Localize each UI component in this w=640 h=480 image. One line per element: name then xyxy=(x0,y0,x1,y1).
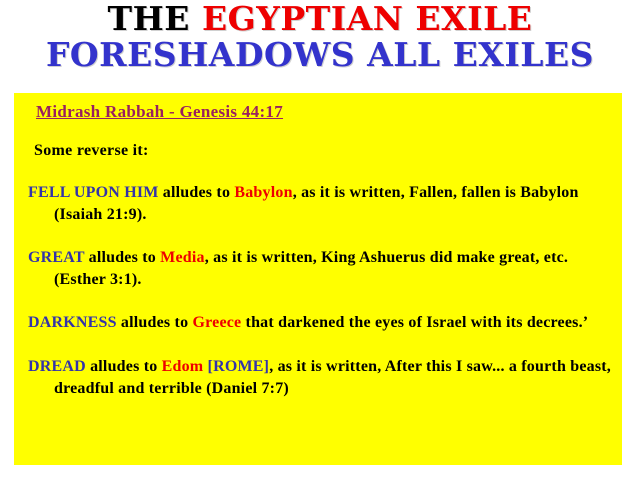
keyword-fell-upon-him: FELL UPON HIM xyxy=(28,184,159,201)
exile-paragraph-3: DARKNESS alludes to Greece that darkened… xyxy=(28,312,612,334)
nation-edom: Edom xyxy=(162,358,204,375)
slide-title: THE EGYPTIAN EXILE FORESHADOWS ALL EXILE… xyxy=(0,2,640,71)
connector-2: alludes to xyxy=(84,249,160,266)
title-word-the: THE xyxy=(108,0,190,38)
connector-1: alludes to xyxy=(159,184,235,201)
connector-4: alludes to xyxy=(86,358,162,375)
keyword-dread: DREAD xyxy=(28,358,86,375)
exile-paragraph-4: DREAD alludes to Edom [ROME], as it is w… xyxy=(28,356,612,399)
title-phrase-egyptian-exile: EGYPTIAN EXILE xyxy=(202,0,533,38)
title-phrase-foreshadows-all-exiles: FORESHADOWS ALL EXILES xyxy=(46,35,594,74)
nation-babylon: Babylon xyxy=(234,184,292,201)
keyword-great: GREAT xyxy=(28,249,84,266)
title-line-2: FORESHADOWS ALL EXILES xyxy=(0,38,640,72)
nation-greece: Greece xyxy=(192,314,241,331)
keyword-darkness: DARKNESS xyxy=(28,314,117,331)
scripture-text-3: that darkened the eyes of Israel with it… xyxy=(241,314,588,331)
nation-rome-bracket: [ROME] xyxy=(203,358,269,375)
exile-paragraph-2: GREAT alludes to Media, as it is written… xyxy=(28,247,612,290)
source-citation-heading: Midrash Rabbah - Genesis 44:17 xyxy=(36,102,283,122)
nation-media: Media xyxy=(160,249,205,266)
slide: THE EGYPTIAN EXILE FORESHADOWS ALL EXILE… xyxy=(0,0,640,480)
content-panel: Midrash Rabbah - Genesis 44:17 Some reve… xyxy=(14,93,622,465)
title-line-1: THE EGYPTIAN EXILE xyxy=(0,2,640,36)
exile-paragraph-1: FELL UPON HIM alludes to Babylon, as it … xyxy=(28,182,612,225)
intro-text: Some reverse it: xyxy=(34,142,612,160)
connector-3: alludes to xyxy=(117,314,193,331)
